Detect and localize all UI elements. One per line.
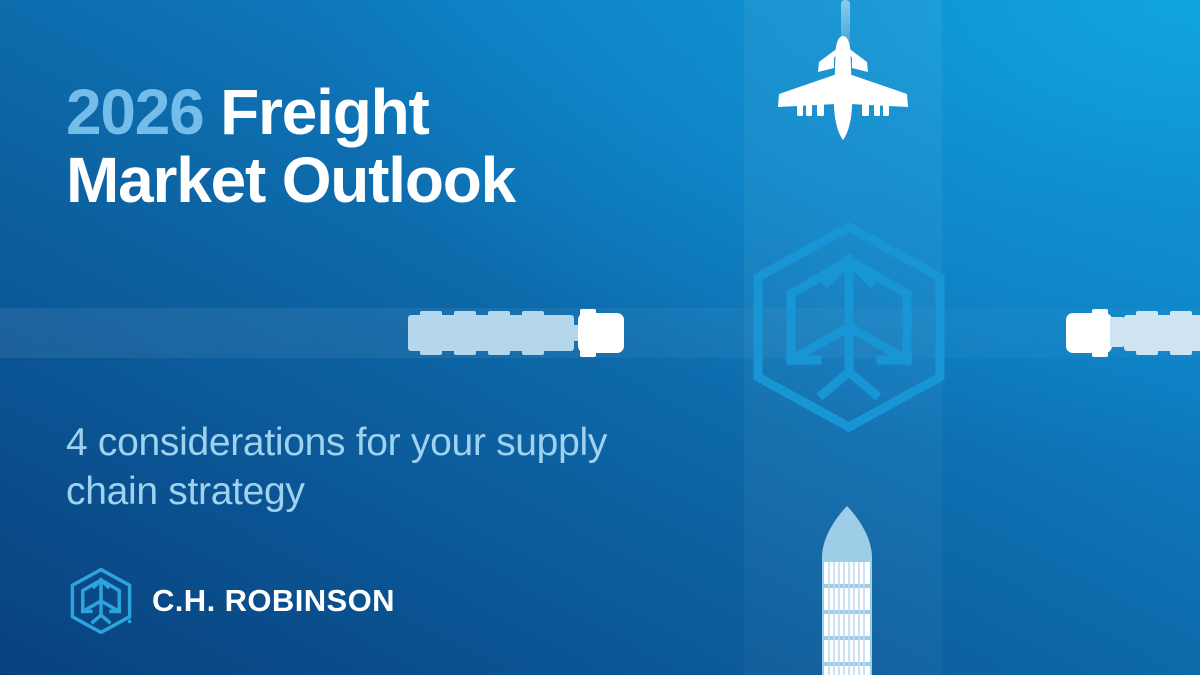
cargo-ship-top-down-icon [816, 506, 878, 675]
airplane-top-down-icon [773, 28, 913, 144]
headline-rest: Freight [204, 76, 429, 148]
brand-wordmark: C.H. ROBINSON [152, 583, 395, 619]
subtitle: 4 considerations for your supply chain s… [66, 418, 686, 516]
brand-logo-lockup[interactable]: C.H. ROBINSON [68, 568, 395, 634]
headline-year: 2026 [66, 76, 204, 148]
truck-top-down-right-icon [408, 309, 626, 357]
marketing-banner: 2026 Freight Market Outlook 4 considerat… [0, 0, 1200, 675]
truck-top-down-left-icon [1062, 309, 1200, 357]
hexagon-cube-arrows-watermark [744, 222, 954, 432]
page-title: 2026 Freight Market Outlook [66, 78, 706, 215]
headline-line2: Market Outlook [66, 144, 515, 216]
hexagon-cube-arrows-icon [68, 568, 134, 634]
headline-block: 2026 Freight Market Outlook [66, 78, 706, 215]
